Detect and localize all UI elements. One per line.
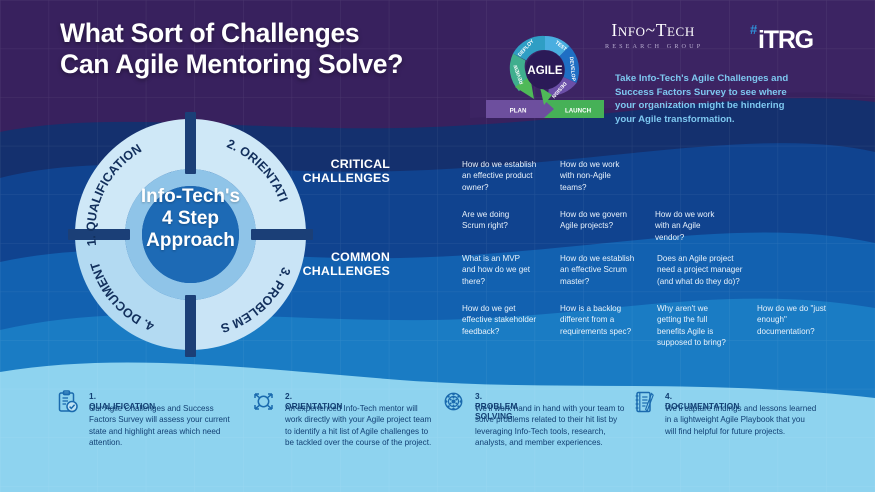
- common-question-6: Why aren't we getting the full benefits …: [657, 303, 747, 348]
- agile-cycle-diagram: PLAN LAUNCH AGILE DEPLOY TEST DEVELOP: [482, 27, 608, 123]
- common-question-3: Does an Agile project need a project man…: [657, 253, 765, 287]
- common-challenges-label: COMMON CHALLENGES: [294, 251, 390, 279]
- footer-body-3: We'll work hand in hand with your team t…: [475, 403, 627, 449]
- logo-ech: ECH: [667, 24, 695, 39]
- infotech-logo-name: INFO~TECH: [603, 22, 703, 40]
- clipboard-check-icon: [57, 390, 79, 414]
- footer-body-2: An experienced Info-Tech mentor will wor…: [285, 403, 437, 449]
- logo-tilde-t: ~T: [646, 20, 667, 40]
- critical-question-3: Are we doing Scrum right?: [462, 209, 557, 232]
- common-question-1: What is an MVP and how do we get there?: [462, 253, 557, 287]
- critical-question-1: How do we establish an effective product…: [462, 159, 557, 193]
- infotech-logo-subtitle: RESEARCH GROUP: [605, 43, 703, 50]
- common-question-7: How do we do "just enough" documentation…: [757, 303, 852, 337]
- agile-center-label: AGILE: [527, 65, 562, 77]
- notebook-icon: [633, 390, 655, 414]
- common-question-2: How do we establish an effective Scrum m…: [560, 253, 654, 287]
- logo-nfo: NFO: [618, 24, 646, 39]
- header-blurb: Take Info-Tech's Agile Challenges and Su…: [615, 72, 865, 126]
- plan-label: PLAN: [510, 108, 527, 115]
- critical-challenges-label: CRITICAL CHALLENGES: [294, 158, 390, 186]
- critical-question-5: How do we work with an Agile vendor?: [655, 209, 747, 243]
- itrg-logo-text: iTRG: [758, 28, 813, 53]
- donut-center-text: Info-Tech's 4 Step Approach: [113, 186, 268, 253]
- footer-body-4: We'll capture findings and lessons learn…: [665, 403, 817, 437]
- infographic-canvas: What Sort of Challenges Can Agile Mentor…: [0, 0, 875, 492]
- footer-body-1: Our Agile Challenges and Success Factors…: [89, 403, 241, 449]
- common-question-5: How is a backlog different from a requir…: [560, 303, 654, 337]
- launch-label: LAUNCH: [565, 108, 592, 115]
- common-question-4: How do we get effective stakeholder feed…: [462, 303, 557, 337]
- critical-question-2: How do we work with non-Agile teams?: [560, 159, 652, 193]
- critical-question-4: How do we govern Agile projects?: [560, 209, 652, 232]
- expand-arrows-icon: [253, 390, 275, 414]
- page-title: What Sort of Challenges Can Agile Mentor…: [60, 18, 403, 80]
- infotech-logo: INFO~TECH RESEARCH GROUP: [603, 22, 703, 50]
- gear-network-icon: [443, 390, 465, 414]
- hash-icon: #: [750, 23, 757, 36]
